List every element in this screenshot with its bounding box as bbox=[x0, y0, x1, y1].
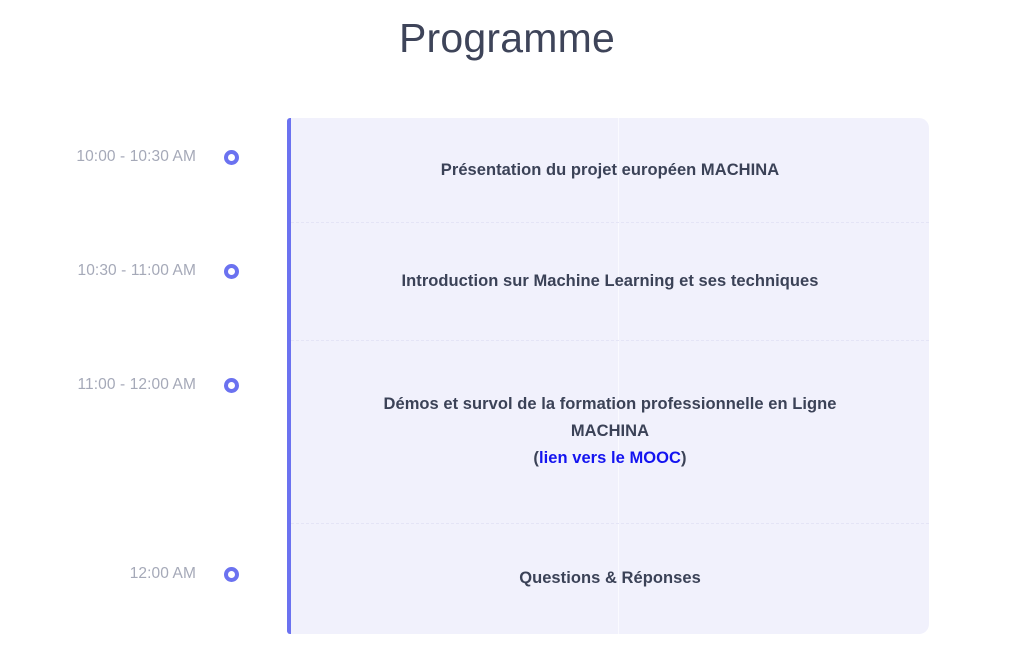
schedule-panel: Présentation du projet européen MACHINA … bbox=[287, 118, 929, 634]
link-suffix: ) bbox=[681, 449, 687, 467]
session-title: Démos et survol de la formation professi… bbox=[309, 391, 911, 418]
schedule-row[interactable]: Présentation du projet européen MACHINA bbox=[291, 118, 929, 222]
time-entry: 11:00 - 12:00 AM bbox=[0, 374, 287, 396]
time-entry: 12:00 AM bbox=[0, 563, 287, 585]
time-entry: 10:00 - 10:30 AM bbox=[0, 146, 287, 168]
programme-schedule: 10:00 - 10:30 AM 10:30 - 11:00 AM 11:00 … bbox=[0, 118, 1014, 634]
schedule-row[interactable]: Questions & Réponses bbox=[291, 523, 929, 634]
time-label: 10:00 - 10:30 AM bbox=[76, 148, 196, 166]
mooc-link[interactable]: lien vers le MOOC bbox=[539, 449, 681, 467]
time-label: 12:00 AM bbox=[130, 565, 196, 583]
session-title: Présentation du projet européen MACHINA bbox=[309, 157, 911, 184]
time-label: 11:00 - 12:00 AM bbox=[77, 376, 196, 394]
circle-ring-icon bbox=[224, 567, 239, 582]
time-entry: 10:30 - 11:00 AM bbox=[0, 260, 287, 282]
session-link-line: (lien vers le MOOC) bbox=[309, 445, 911, 472]
schedule-row[interactable]: Introduction sur Machine Learning et ses… bbox=[291, 222, 929, 340]
session-subtitle: MACHINA bbox=[309, 418, 911, 445]
session-title: Introduction sur Machine Learning et ses… bbox=[309, 268, 911, 295]
schedule-row[interactable]: Démos et survol de la formation professi… bbox=[291, 340, 929, 523]
time-column: 10:00 - 10:30 AM 10:30 - 11:00 AM 11:00 … bbox=[0, 118, 287, 634]
circle-ring-icon bbox=[224, 150, 239, 165]
circle-ring-icon bbox=[224, 378, 239, 393]
circle-ring-icon bbox=[224, 264, 239, 279]
page-title: Programme bbox=[0, 14, 1014, 63]
time-label: 10:30 - 11:00 AM bbox=[77, 262, 196, 280]
session-title: Questions & Réponses bbox=[309, 565, 911, 592]
